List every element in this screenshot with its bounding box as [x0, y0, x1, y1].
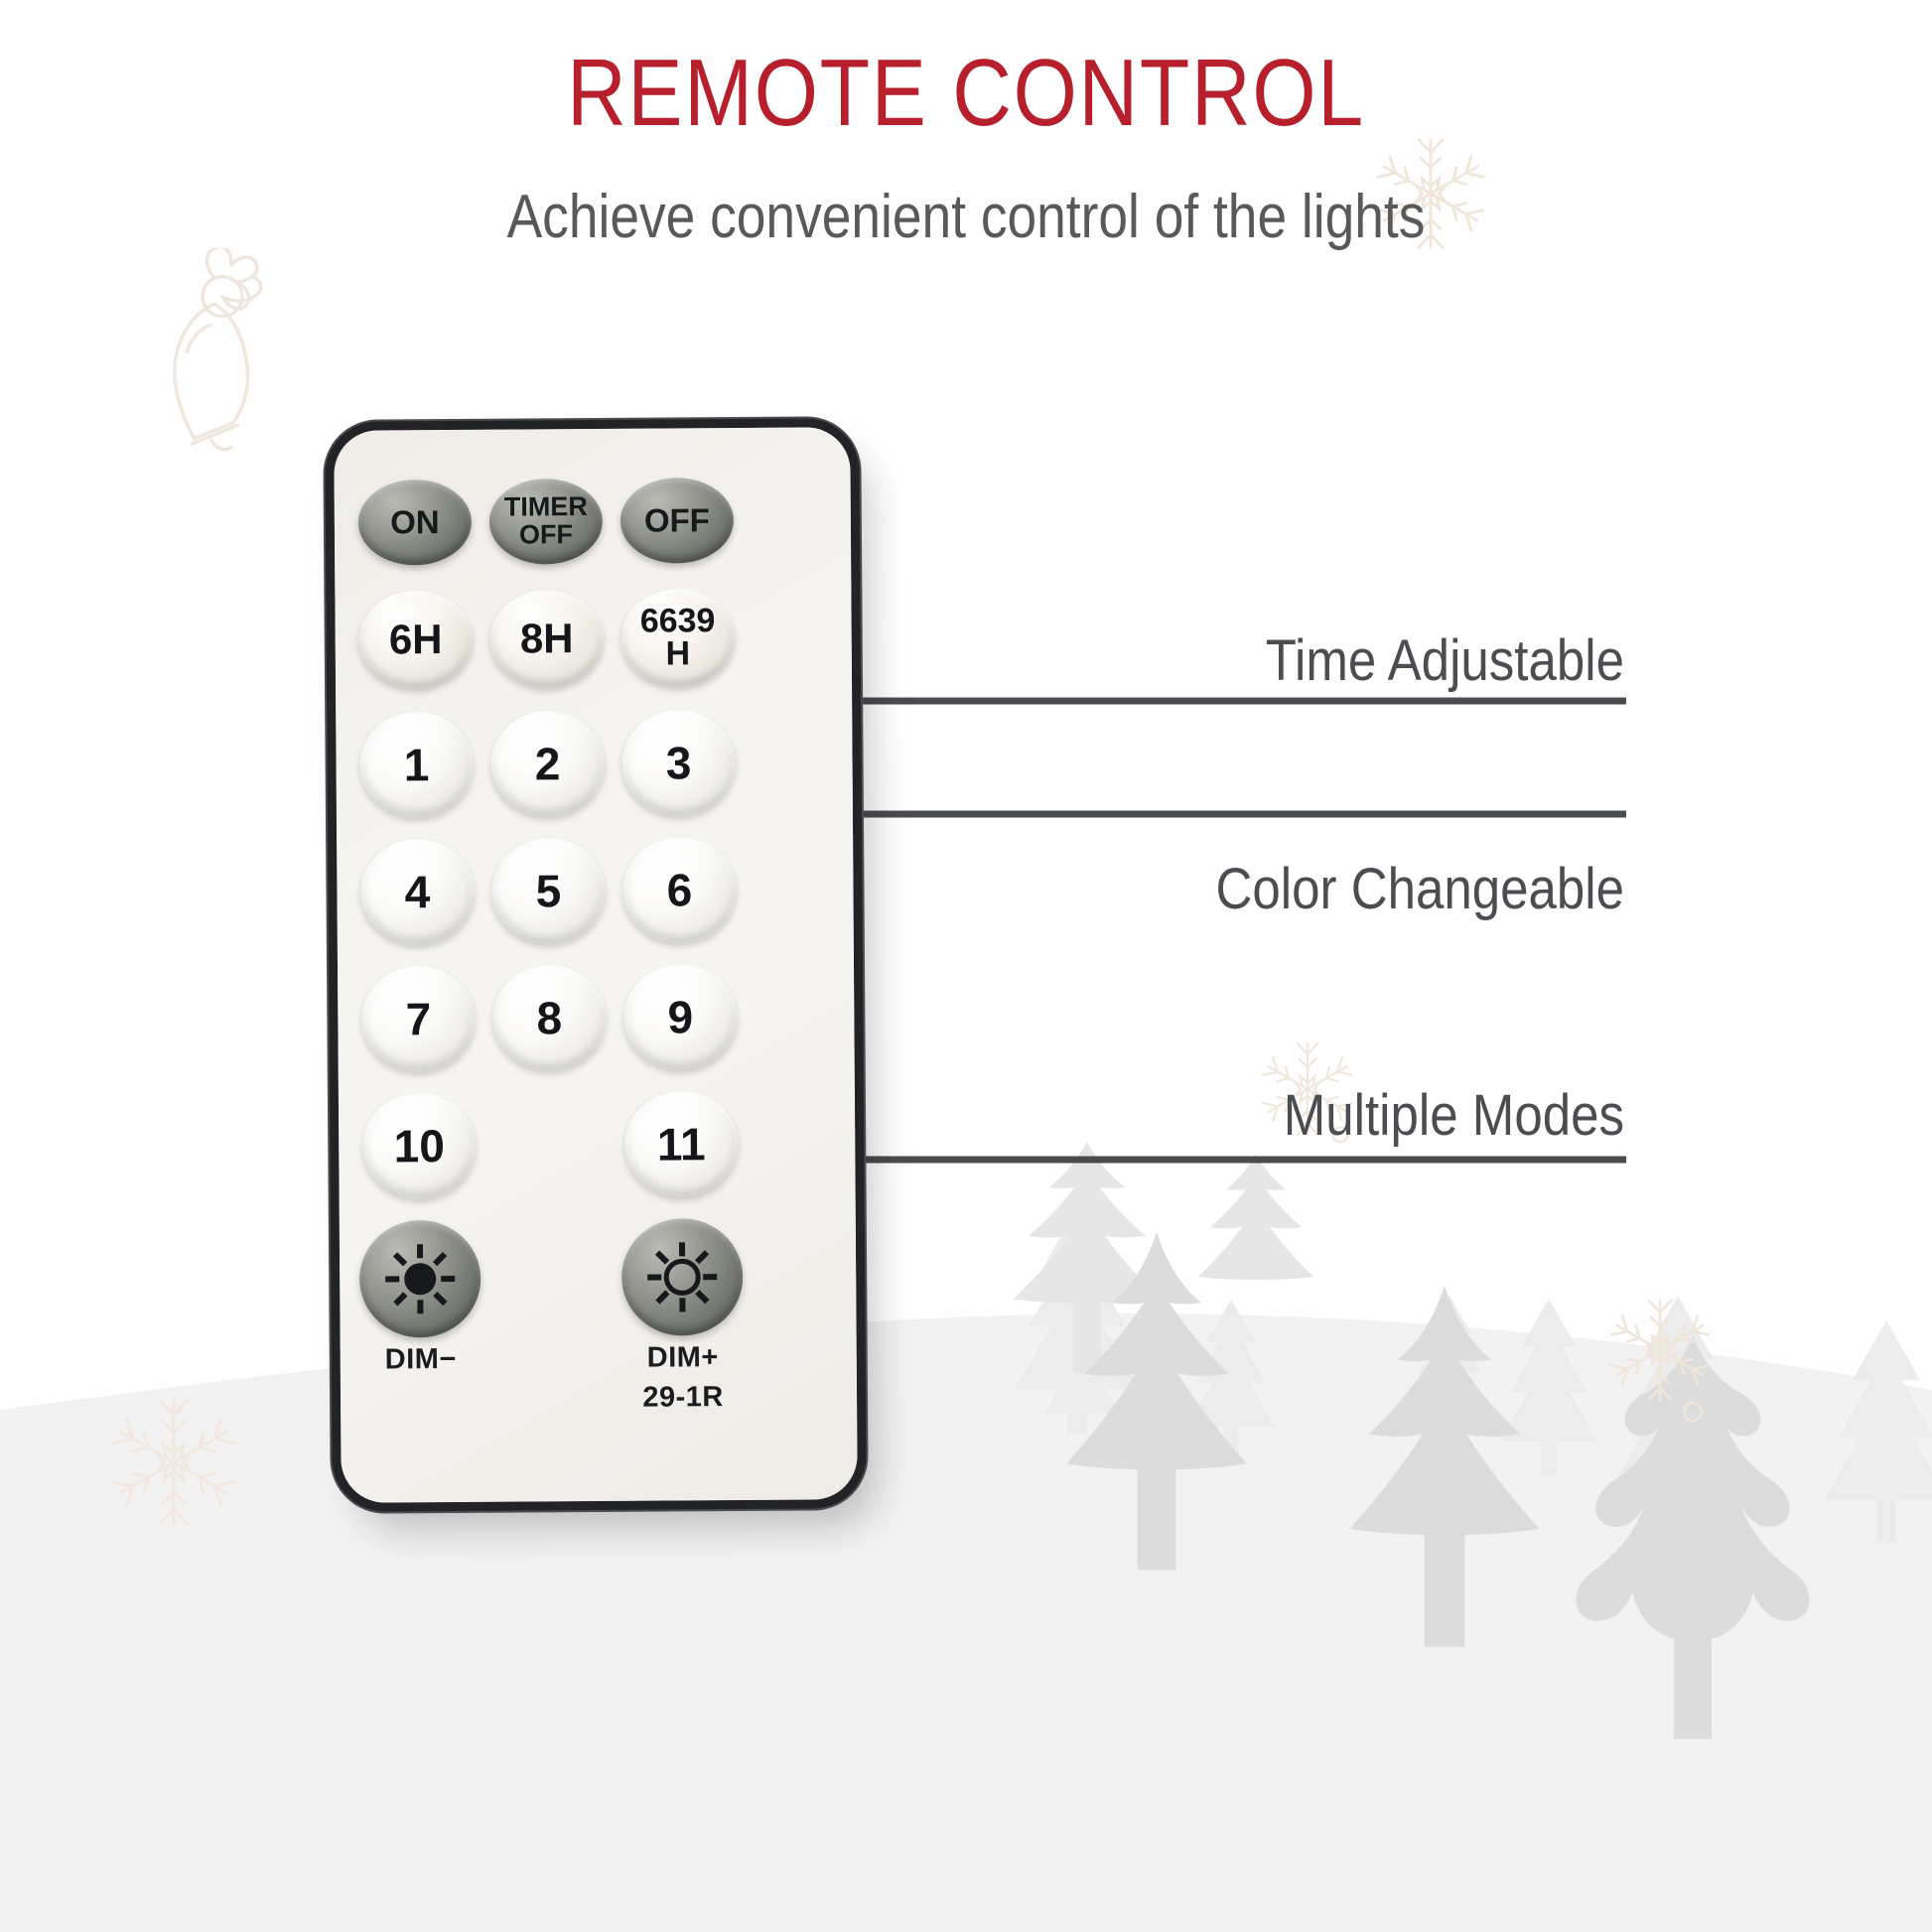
button-2[interactable]: 2	[490, 711, 605, 817]
button-7[interactable]: 7	[361, 966, 476, 1072]
button-dim-up[interactable]	[621, 1218, 744, 1336]
callout-leader-lines	[0, 0, 1932, 1932]
tree-group-front	[1066, 1232, 1809, 1739]
snowflake-icon	[99, 1388, 248, 1537]
poster-canvas: REMOTE CONTROL Achieve convenient contro…	[0, 0, 1932, 1932]
page-title: REMOTE CONTROL	[135, 44, 1797, 144]
button-timer-off[interactable]: TIMER OFF	[489, 479, 604, 565]
button-8[interactable]: 8	[492, 965, 607, 1071]
button-10[interactable]: 10	[362, 1093, 477, 1199]
button-3[interactable]: 3	[621, 710, 736, 816]
button-dim-down[interactable]	[359, 1220, 482, 1338]
button-on[interactable]: ON	[358, 480, 473, 566]
snow-hill	[0, 1313, 1932, 1932]
button-9[interactable]: 9	[623, 964, 738, 1070]
dim-up-group[interactable]: DIM+	[616, 1218, 750, 1398]
button-5[interactable]: 5	[491, 838, 606, 944]
background-decoration	[0, 0, 1932, 1932]
button-8h[interactable]: 8H	[489, 590, 604, 688]
dim-up-label: DIM+	[617, 1341, 750, 1375]
page-subtitle: Achieve convenient control of the lights	[135, 184, 1797, 251]
brightness-up-icon	[639, 1234, 726, 1320]
bell-icon	[95, 248, 324, 457]
dim-down-group[interactable]: DIM−	[353, 1220, 487, 1400]
winter-scene	[0, 0, 1932, 1932]
button-off[interactable]: OFF	[621, 478, 735, 564]
button-1[interactable]: 1	[359, 712, 474, 818]
button-6[interactable]: 6	[622, 837, 737, 943]
button-6h[interactable]: 6H	[358, 591, 473, 689]
button-4[interactable]: 4	[360, 839, 475, 945]
button-11[interactable]: 11	[624, 1091, 739, 1197]
button-6639h[interactable]: 6639 H	[621, 589, 735, 687]
tree-group-mid	[1014, 1142, 1313, 1373]
tree-group-back	[1015, 1207, 1932, 1543]
snowflake-icon	[1600, 1291, 1720, 1430]
dim-down-label: DIM−	[354, 1343, 487, 1377]
brightness-down-icon	[377, 1236, 464, 1322]
remote-control-device: ON TIMER OFF OFF 6H 8H 6639 H 1	[334, 427, 858, 1503]
model-code-label: 29-1R	[617, 1381, 750, 1415]
